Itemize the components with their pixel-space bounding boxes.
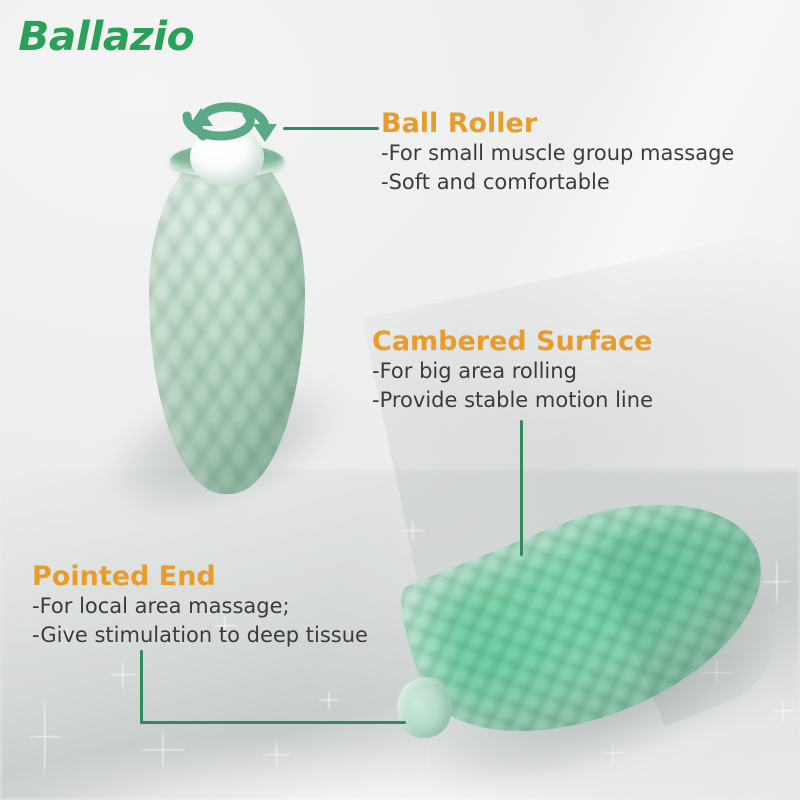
callout-line: -Soft and comfortable <box>381 168 734 197</box>
callout-line: -For big area rolling <box>372 357 653 386</box>
product-image-upright-egg <box>137 118 317 500</box>
callout-heading: Cambered Surface <box>372 326 653 357</box>
brand-logo: Ballazio <box>18 14 194 60</box>
connector-line-ball-roller <box>283 127 379 130</box>
callout-line: -For local area massage; <box>32 592 368 621</box>
callout-line: -For small muscle group massage <box>381 139 734 168</box>
connector-line-pointed-end-horizontal <box>140 721 406 724</box>
callout-heading: Pointed End <box>32 561 368 592</box>
callout-cambered-surface: Cambered Surface -For big area rolling -… <box>372 326 653 414</box>
callout-line: -Provide stable motion line <box>372 386 653 415</box>
callout-heading: Ball Roller <box>381 108 734 139</box>
connector-line-pointed-end-vertical <box>140 650 143 724</box>
product-image-tilted-egg <box>388 502 800 770</box>
callout-line: -Give stimulation to deep tissue <box>32 621 368 650</box>
egg-body <box>149 146 305 494</box>
diamond-facet-texture <box>149 146 305 494</box>
rotation-arrow-icon <box>177 96 287 166</box>
connector-line-cambered-surface <box>520 420 523 556</box>
callout-ball-roller: Ball Roller -For small muscle group mass… <box>381 108 734 196</box>
callout-pointed-end: Pointed End -For local area massage; -Gi… <box>32 561 368 649</box>
product-infographic: Ballazio Ball Roller -For small muscle g… <box>0 0 800 800</box>
